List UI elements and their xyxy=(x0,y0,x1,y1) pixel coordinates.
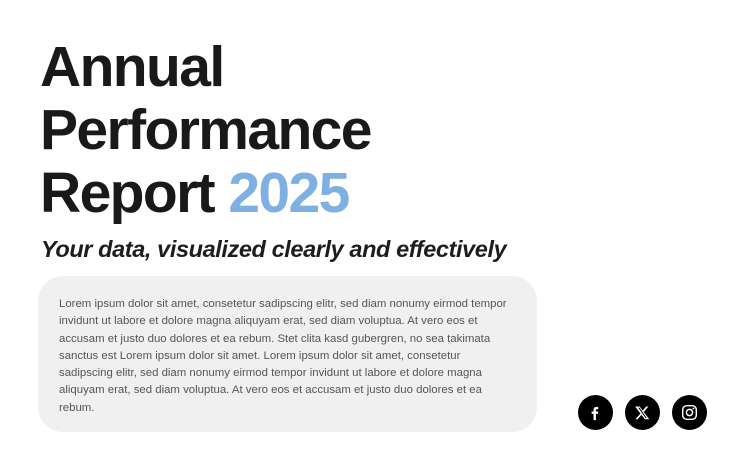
social-links xyxy=(578,395,707,430)
title-line-3: Report 2025 xyxy=(40,162,700,225)
x-twitter-icon[interactable] xyxy=(625,395,660,430)
instagram-icon[interactable] xyxy=(672,395,707,430)
page-subtitle: Your data, visualized clearly and effect… xyxy=(41,236,506,263)
title-line-3-prefix: Report xyxy=(40,161,228,225)
title-line-2: Performance xyxy=(40,99,700,162)
body-paragraph: Lorem ipsum dolor sit amet, consetetur s… xyxy=(59,296,517,417)
poster-canvas: Annual Performance Report 2025 Your data… xyxy=(0,0,750,475)
body-card: Lorem ipsum dolor sit amet, consetetur s… xyxy=(38,276,537,432)
facebook-icon[interactable] xyxy=(578,395,613,430)
title-year: 2025 xyxy=(228,161,348,225)
page-title: Annual Performance Report 2025 xyxy=(40,36,700,225)
title-line-1: Annual xyxy=(40,36,700,99)
